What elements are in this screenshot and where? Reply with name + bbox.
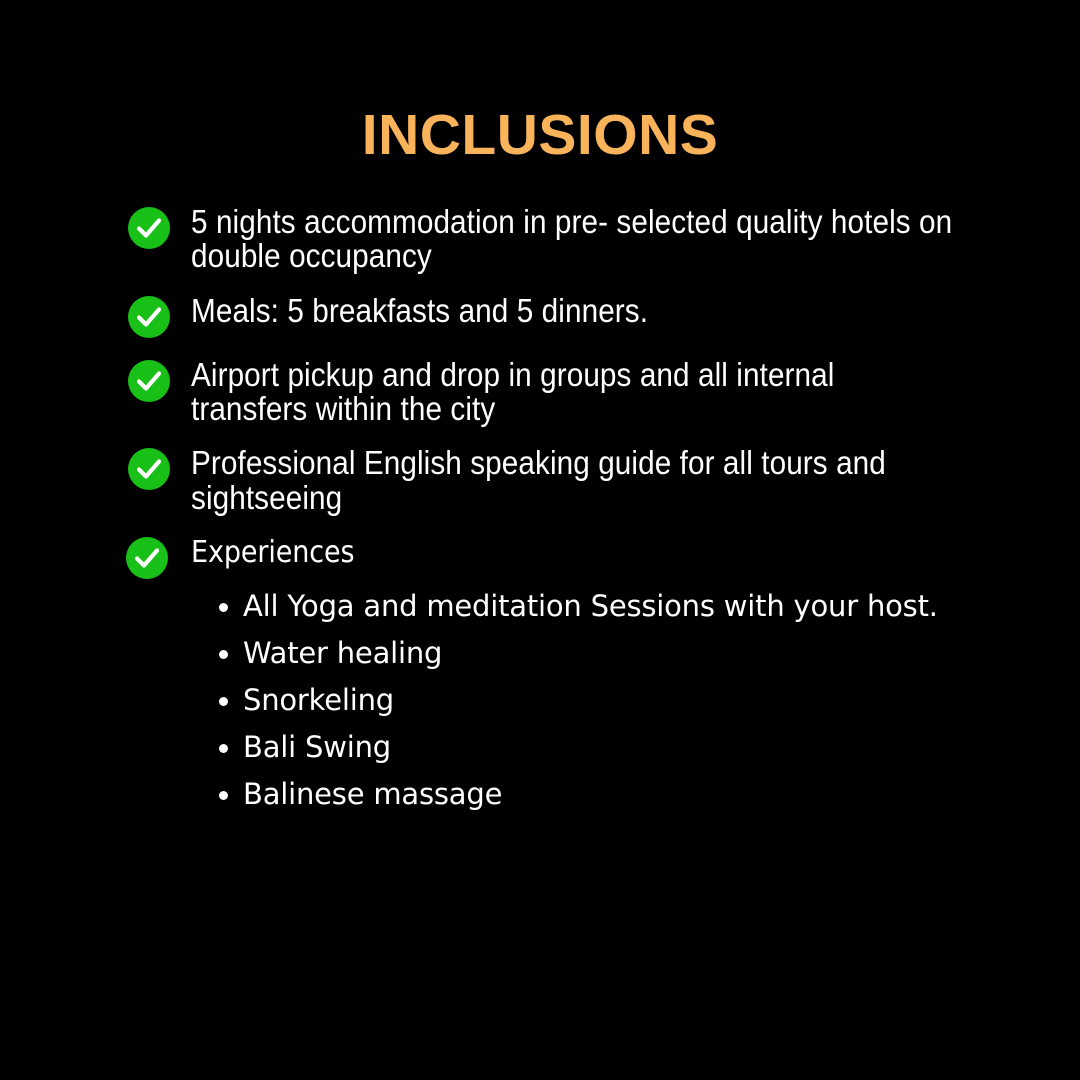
list-item-label: All Yoga and meditation Sessions with yo…	[243, 589, 938, 623]
list-item-label: Experiences	[191, 533, 1043, 568]
check-circle-icon	[126, 537, 168, 579]
list-item: 5 nights accommodation in pre- selected …	[128, 203, 1043, 274]
check-circle-icon	[128, 296, 170, 338]
list-item-label: Bali Swing	[243, 730, 391, 764]
list-item-label: Snorkeling	[243, 683, 394, 717]
list-item: All Yoga and meditation Sessions with yo…	[219, 592, 1039, 621]
list-item-label: Airport pickup and drop in groups and al…	[191, 356, 958, 427]
list-item: Professional English speaking guide for …	[128, 444, 1043, 515]
list-item: Meals: 5 breakfasts and 5 dinners.	[128, 292, 1043, 338]
experiences-sub-list: All Yoga and meditation Sessions with yo…	[219, 592, 1039, 809]
bullet-icon	[219, 603, 228, 612]
list-item-label: Balinese massage	[243, 777, 502, 811]
list-item-experiences: Experiences	[126, 533, 1043, 579]
list-item-label: 5 nights accommodation in pre- selected …	[191, 203, 958, 274]
list-item-label: Meals: 5 breakfasts and 5 dinners.	[191, 292, 958, 328]
bullet-icon	[219, 697, 228, 706]
inclusions-slide: INCLUSIONS 5 nights accommodation in pre…	[0, 0, 1080, 1080]
check-circle-icon	[128, 360, 170, 402]
list-item-label: Professional English speaking guide for …	[191, 444, 958, 515]
page-title: INCLUSIONS	[0, 104, 1080, 167]
list-item: Snorkeling	[219, 686, 1039, 715]
list-item: Balinese massage	[219, 780, 1039, 809]
list-item: Bali Swing	[219, 733, 1039, 762]
list-item-label: Water healing	[243, 636, 442, 670]
bullet-icon	[219, 650, 228, 659]
bullet-icon	[219, 791, 228, 800]
list-item: Water healing	[219, 639, 1039, 668]
check-circle-icon	[128, 448, 170, 490]
inclusions-list: 5 nights accommodation in pre- selected …	[128, 203, 1043, 579]
bullet-icon	[219, 744, 228, 753]
check-circle-icon	[128, 207, 170, 249]
list-item: Airport pickup and drop in groups and al…	[128, 356, 1043, 427]
